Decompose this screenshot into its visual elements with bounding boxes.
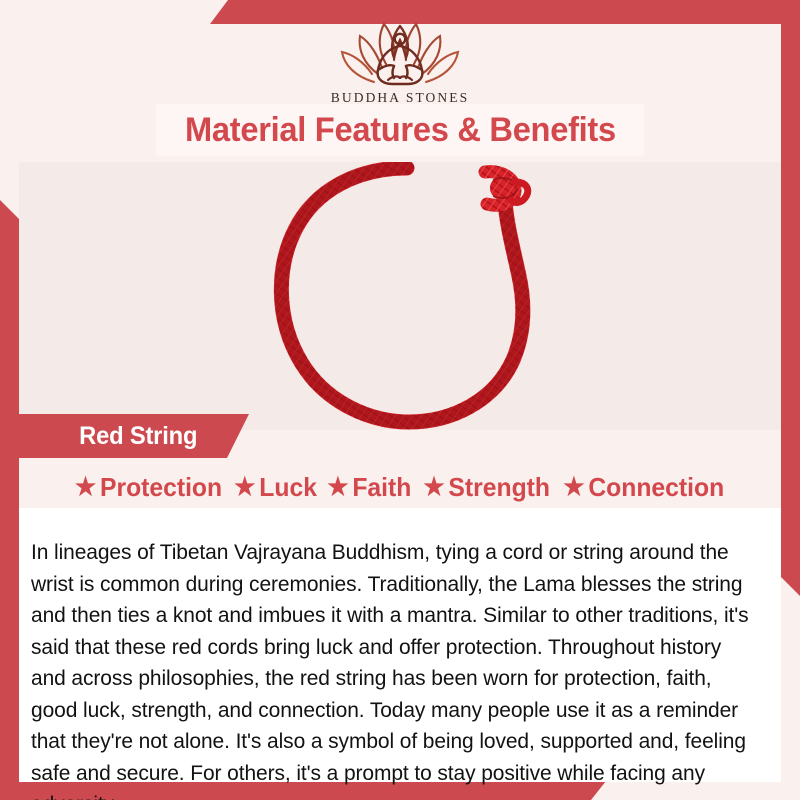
title-plate: Material Features & Benefits	[156, 104, 644, 156]
material-ribbon: Red String	[19, 414, 249, 458]
material-name: Red String	[79, 422, 197, 451]
feature-label: Connection	[589, 472, 725, 503]
decorative-band-left	[0, 200, 19, 778]
infographic-canvas: BUDDHA STONES Material Features & Benefi…	[0, 0, 800, 800]
feature-label: Strength	[448, 472, 550, 503]
star-icon: ★	[328, 475, 349, 500]
star-icon: ★	[423, 475, 444, 500]
brand-logo: BUDDHA STONES	[0, 16, 800, 106]
feature-item-luck: ★ Luck	[234, 472, 317, 503]
page-title: Material Features & Benefits	[185, 111, 616, 150]
star-icon: ★	[75, 475, 96, 500]
description-text: In lineages of Tibetan Vajrayana Buddhis…	[31, 537, 752, 800]
decorative-band-right	[781, 24, 800, 596]
feature-item-connection: ★ Connection	[564, 472, 725, 503]
feature-label: Faith	[353, 472, 412, 503]
red-string-bracelet-illustration	[257, 162, 557, 430]
feature-item-faith: ★ Faith	[328, 472, 412, 503]
star-icon: ★	[234, 475, 255, 500]
feature-label: Protection	[100, 472, 222, 503]
lotus-meditation-icon	[334, 16, 466, 88]
feature-item-protection: ★ Protection	[75, 472, 222, 503]
product-image	[19, 162, 781, 430]
feature-label: Luck	[260, 472, 318, 503]
feature-item-strength: ★ Strength	[423, 472, 550, 503]
star-icon: ★	[564, 475, 585, 500]
description-panel: In lineages of Tibetan Vajrayana Buddhis…	[19, 508, 781, 782]
feature-list: ★ Protection ★ Luck ★ Faith ★ Strength ★…	[19, 466, 781, 508]
